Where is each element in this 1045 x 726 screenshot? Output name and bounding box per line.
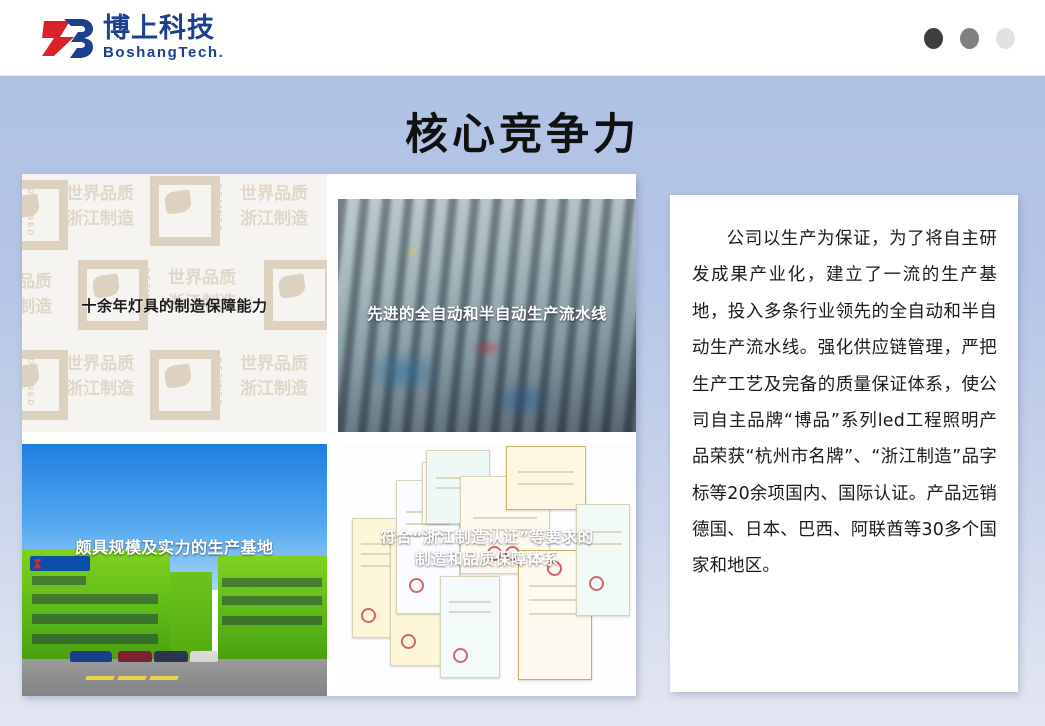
company-logo[interactable]: 博上科技 BoshangTech. xyxy=(40,12,224,62)
indicator-dot-3[interactable] xyxy=(996,28,1015,49)
tile-certifications[interactable]: 符合“浙江制造认证”等要求的 制造和品质保障体系 xyxy=(338,444,636,696)
description-panel: 公司以生产为保证，为了将自主研发成果产业化，建立了一流的生产基地，投入多条行业领… xyxy=(670,195,1018,692)
tile-production-base[interactable]: 颇具规模及实力的生产基地 xyxy=(22,444,327,696)
image-collage-card: DEFINED LITY 世界品质浙江制造 DEFINED QUALITY 世界… xyxy=(22,174,636,696)
tile-caption: 十余年灯具的制造保障能力 xyxy=(22,296,327,318)
tile-caption-line2: 制造和品质保障体系 xyxy=(415,550,559,568)
boshang-logo-mark-icon xyxy=(40,12,96,62)
tile-caption: 先进的全自动和半自动生产流水线 xyxy=(338,303,636,325)
tile-manufacturing-capability[interactable]: DEFINED LITY 世界品质浙江制造 DEFINED QUALITY 世界… xyxy=(22,174,327,432)
page-title: 核心竞争力 xyxy=(0,100,1045,162)
tile-production-line[interactable]: 先进的全自动和半自动生产流水线 xyxy=(338,199,636,432)
indicator-dot-2[interactable] xyxy=(960,28,979,49)
slide-root: 博上科技 BoshangTech. 核心竞争力 DEFINED LITY 世界品… xyxy=(0,0,1045,726)
tile-caption-line1: 符合“浙江制造认证”等要求的 xyxy=(380,528,593,546)
tile-caption: 颇具规模及实力的生产基地 xyxy=(22,536,327,559)
logo-brand-cn: 博上科技 xyxy=(103,15,224,42)
slide-indicator-dots[interactable] xyxy=(924,28,1015,49)
logo-brand-en: BoshangTech. xyxy=(103,45,224,60)
description-paragraph: 公司以生产为保证，为了将自主研发成果产业化，建立了一流的生产基地，投入多条行业领… xyxy=(692,221,997,585)
indicator-dot-1[interactable] xyxy=(924,28,943,49)
page-header: 博上科技 BoshangTech. xyxy=(0,0,1045,76)
tile-caption: 符合“浙江制造认证”等要求的 制造和品质保障体系 xyxy=(338,526,636,571)
